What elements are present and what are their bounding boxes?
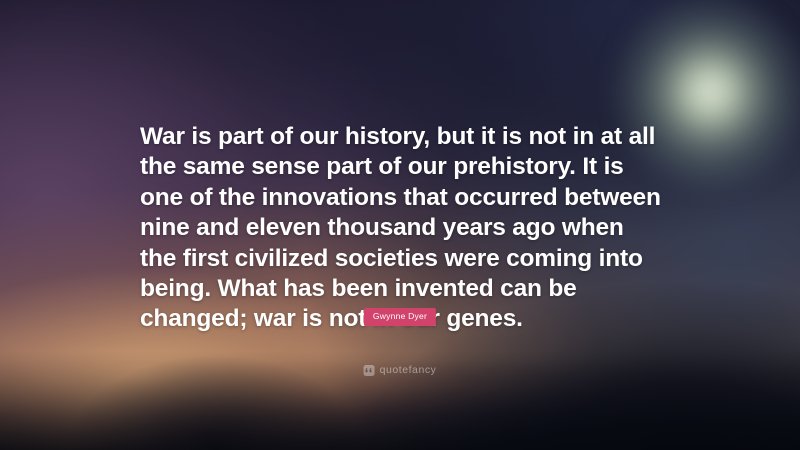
quote-mark-icon — [364, 365, 375, 376]
author-badge: Gwynne Dyer — [364, 308, 436, 326]
quote-text: War is part of our history, but it is no… — [140, 122, 664, 335]
quote-content: War is part of our history, but it is no… — [0, 0, 800, 450]
watermark[interactable]: quotefancy — [364, 365, 437, 376]
quote-wallpaper-canvas: War is part of our history, but it is no… — [0, 0, 800, 450]
watermark-label: quotefancy — [380, 365, 437, 376]
